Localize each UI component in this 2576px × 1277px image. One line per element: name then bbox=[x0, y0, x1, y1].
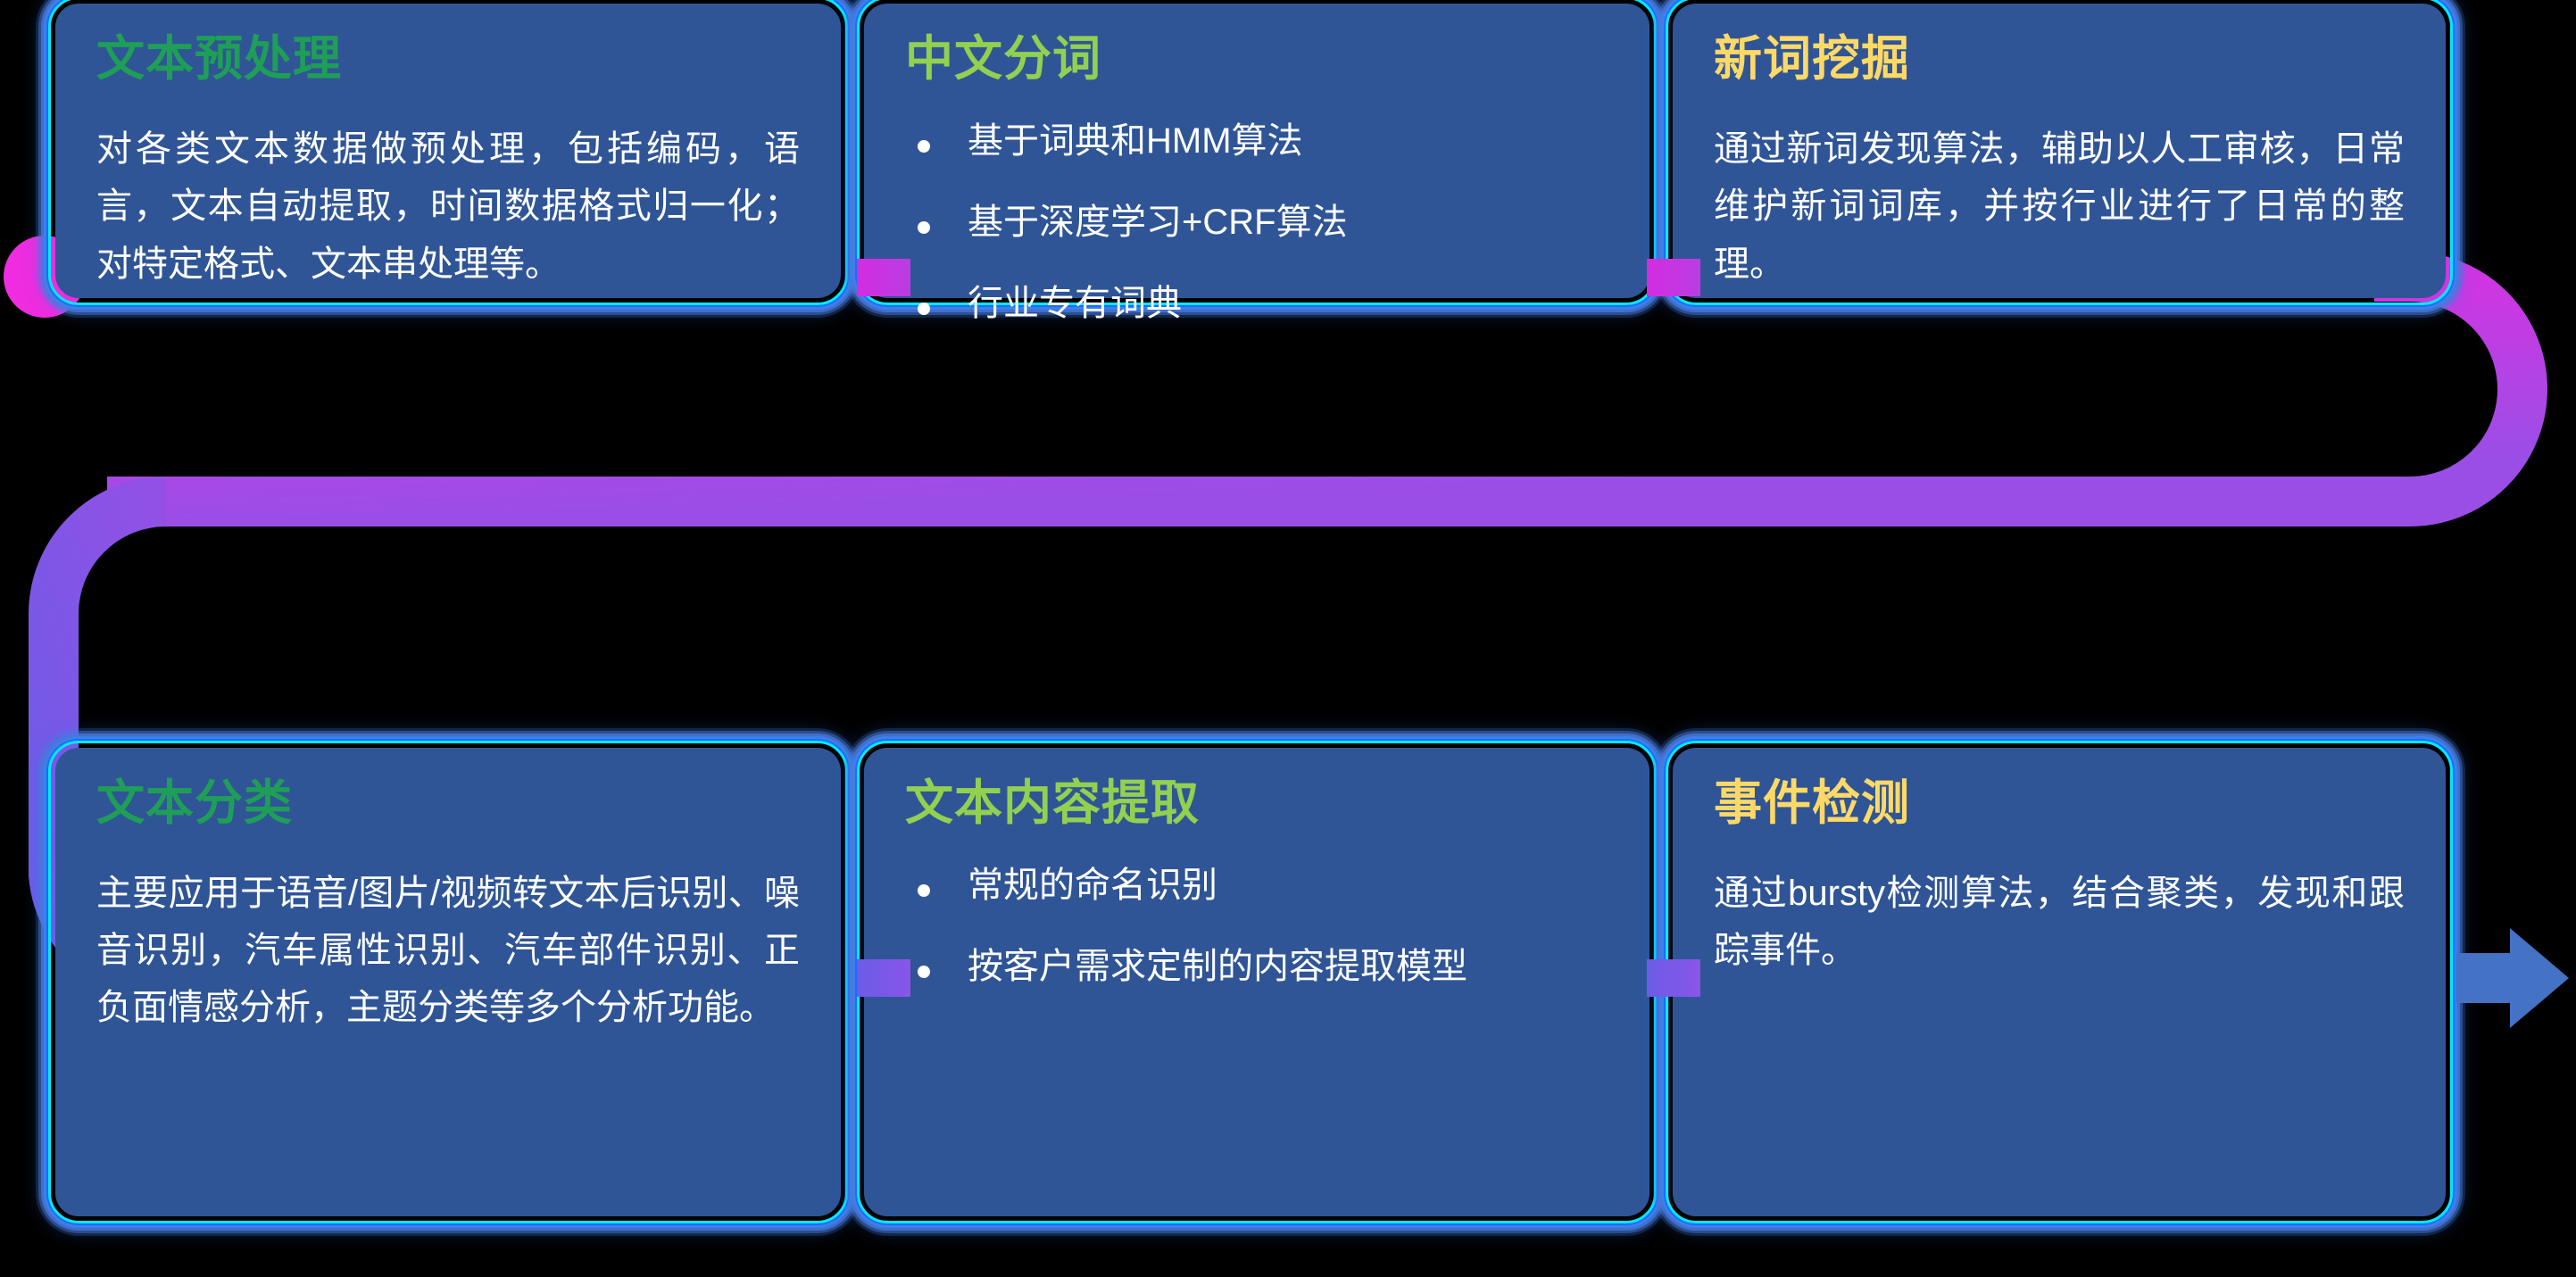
card-title: 文本分类 bbox=[96, 778, 800, 829]
card-title: 文本预处理 bbox=[96, 34, 800, 85]
bottom-row: 文本分类 主要应用于语音/图片/视频转文本后识别、噪音识别，汽车属性识别、汽车部… bbox=[55, 748, 2465, 1225]
end-arrow-head-icon bbox=[2510, 928, 2569, 1028]
top-row: 文本预处理 对各类文本数据做预处理，包括编码，语言，文本自动提取，时间数据格式归… bbox=[55, 4, 2465, 307]
bullet-dot-icon bbox=[918, 303, 930, 315]
card-event-detection[interactable]: 事件检测 通过bursty检测算法，结合聚类，发现和跟踪事件。 bbox=[1673, 748, 2446, 1216]
card-text-classification[interactable]: 文本分类 主要应用于语音/图片/视频转文本后识别、噪音识别，汽车属性识别、汽车部… bbox=[55, 748, 841, 1216]
bullet-dot-icon bbox=[918, 884, 930, 897]
card-new-word-discovery[interactable]: 新词挖掘 通过新词发现算法，辅助以人工审核，日常维护新词词库，并按行业进行了日常… bbox=[1673, 4, 2446, 298]
list-item: 基于词典和HMM算法 bbox=[905, 120, 1608, 162]
bullet-dot-icon bbox=[918, 966, 930, 978]
bullet-dot-icon bbox=[918, 140, 930, 153]
card-title: 文本内容提取 bbox=[905, 778, 1608, 829]
list-item: 常规的命名识别 bbox=[905, 865, 1608, 907]
card-chinese-word-segmentation[interactable]: 中文分词 基于词典和HMM算法 基于深度学习+CRF算法 行业专有词典 bbox=[864, 4, 1649, 298]
list-item-label: 行业专有词典 bbox=[968, 284, 1182, 323]
card-bullet-list: 常规的命名识别 按客户需求定制的内容提取模型 bbox=[905, 865, 1608, 988]
card-text-content-extraction[interactable]: 文本内容提取 常规的命名识别 按客户需求定制的内容提取模型 bbox=[864, 748, 1649, 1216]
list-item-label: 基于词典和HMM算法 bbox=[968, 121, 1303, 161]
list-item: 按客户需求定制的内容提取模型 bbox=[905, 946, 1608, 988]
card-text-preprocessing[interactable]: 文本预处理 对各类文本数据做预处理，包括编码，语言，文本自动提取，时间数据格式归… bbox=[55, 4, 841, 298]
diagram-canvas: 文本预处理 对各类文本数据做预处理，包括编码，语言，文本自动提取，时间数据格式归… bbox=[0, 0, 2576, 1277]
list-item-label: 按客户需求定制的内容提取模型 bbox=[968, 947, 1467, 986]
card-bullet-list: 基于词典和HMM算法 基于深度学习+CRF算法 行业专有词典 bbox=[905, 120, 1608, 326]
card-body: 对各类文本数据做预处理，包括编码，语言，文本自动提取，时间数据格式归一化；对特定… bbox=[96, 120, 800, 294]
bullet-dot-icon bbox=[918, 221, 930, 234]
card-body: 主要应用于语音/图片/视频转文本后识别、噪音识别，汽车属性识别、汽车部件识别、正… bbox=[96, 865, 800, 1036]
list-item: 行业专有词典 bbox=[905, 283, 1608, 325]
card-title: 事件检测 bbox=[1714, 778, 2405, 829]
card-title: 新词挖掘 bbox=[1714, 34, 2405, 85]
card-title: 中文分词 bbox=[905, 34, 1608, 85]
list-item-label: 基于深度学习+CRF算法 bbox=[968, 203, 1348, 242]
card-body: 通过新词发现算法，辅助以人工审核，日常维护新词词库，并按行业进行了日常的整理。 bbox=[1714, 120, 2405, 294]
list-item: 基于深度学习+CRF算法 bbox=[905, 202, 1608, 244]
card-body: 通过bursty检测算法，结合聚类，发现和跟踪事件。 bbox=[1714, 865, 2405, 979]
list-item-label: 常规的命名识别 bbox=[968, 866, 1217, 905]
